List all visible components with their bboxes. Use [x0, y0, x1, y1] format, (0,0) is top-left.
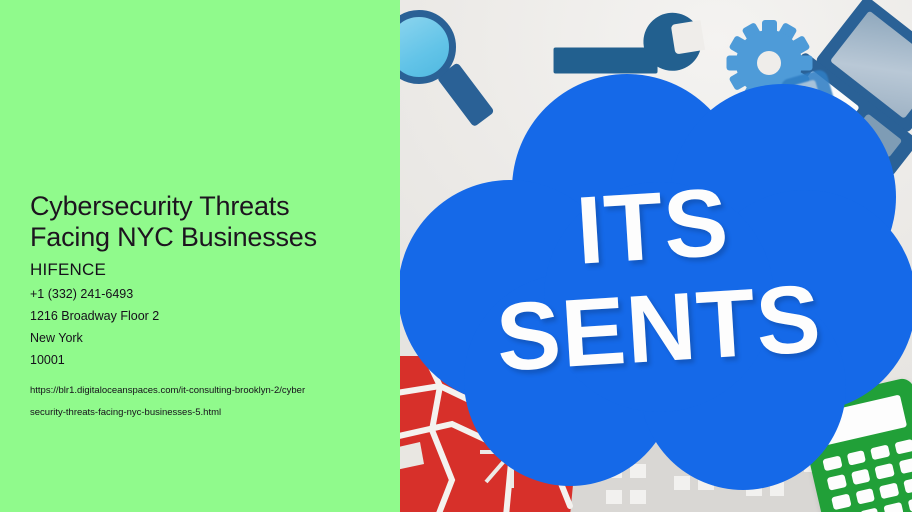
image-layer: ITS SENTS: [400, 0, 912, 512]
source-url-line-2: security-threats-facing-nyc-businesses-5…: [30, 402, 392, 423]
company-name: HIFENCE: [30, 260, 392, 280]
cloud-shape: ITS SENTS: [400, 62, 912, 502]
source-url-line-1: https://blr1.digitaloceanspaces.com/it-c…: [30, 380, 392, 401]
image-panel: ITS SENTS: [400, 0, 912, 512]
text-block: Cybersecurity Threats Facing NYC Busines…: [30, 191, 392, 423]
contact-phone: +1 (332) 241-6493: [30, 283, 392, 305]
cloud-label: ITS SENTS: [400, 164, 912, 399]
contact-zip: 10001: [30, 349, 392, 371]
page-title: Cybersecurity Threats Facing NYC Busines…: [30, 191, 392, 254]
contact-street: 1216 Broadway Floor 2: [30, 305, 392, 327]
contact-city: New York: [30, 327, 392, 349]
wrench-jaw: [671, 20, 705, 54]
text-panel: Cybersecurity Threats Facing NYC Busines…: [0, 0, 400, 512]
source-url[interactable]: https://blr1.digitaloceanspaces.com/it-c…: [30, 380, 392, 423]
poster-canvas: Cybersecurity Threats Facing NYC Busines…: [0, 0, 912, 512]
